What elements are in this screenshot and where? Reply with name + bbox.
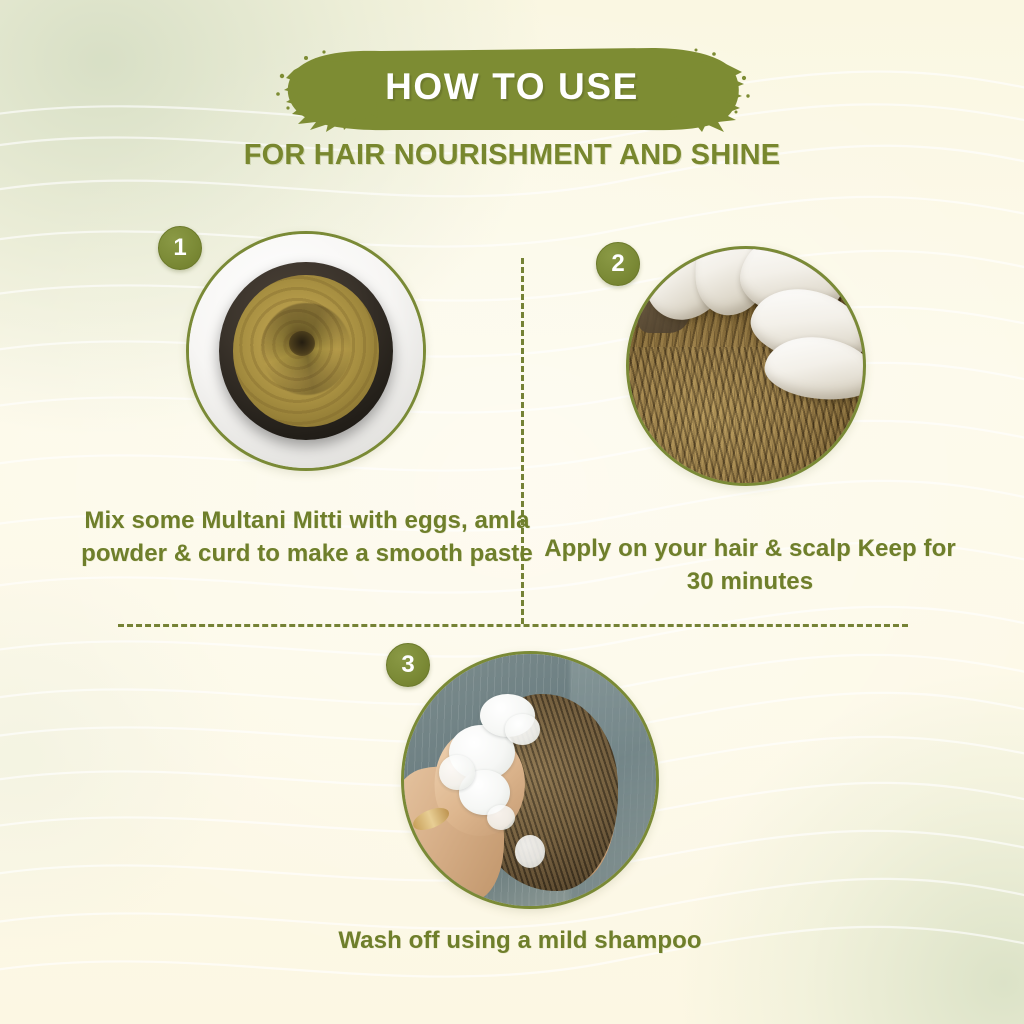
step-caption-1: Mix some Multani Mitti with eggs, amla p… [62,505,552,571]
step-photo-circle-2 [626,246,866,486]
title-brush-banner: HOW TO USE [272,42,752,134]
step-caption-2: Apply on your hair & scalp Keep for 30 m… [540,533,960,599]
step-image-3 [401,651,659,909]
step-image-1 [186,231,426,471]
photo-washing-hair-with-shampoo [404,654,656,906]
step-number-badge-3: 3 [386,643,430,687]
page-subtitle: FOR HAIR NOURISHMENT AND SHINE [0,139,1024,172]
horizontal-dashed-divider [118,624,908,627]
step-photo-circle-1 [186,231,426,471]
photo-applying-paste-to-hair [629,249,863,483]
photo-multani-mitti-bowl [189,234,423,468]
step-number-badge-2: 2 [596,242,640,286]
step-caption-3: Wash off using a mild shampoo [330,925,710,958]
step-photo-circle-3 [401,651,659,909]
step-image-2 [626,246,866,486]
step-number-badge-1: 1 [158,226,202,270]
page-title: HOW TO USE [272,42,752,134]
